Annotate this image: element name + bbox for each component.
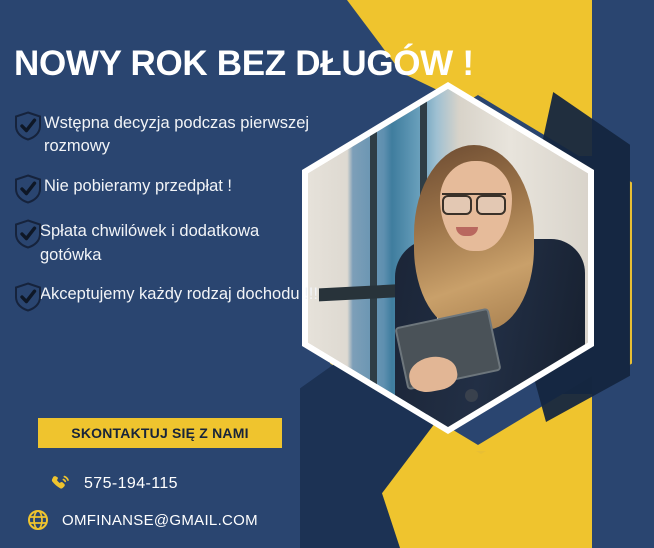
contact-phone-row[interactable]: 575-194-115 [48, 472, 178, 496]
list-item: Nie pobieramy przedpłat ! [10, 175, 322, 198]
email-address: OMFINANSE@GMAIL.COM [62, 512, 258, 529]
shield-check-icon [14, 111, 42, 141]
list-item: Spłata chwilówek i dodatkowa gotówka [10, 220, 322, 267]
photo-jacket-button [465, 389, 478, 402]
benefits-list: Wstępna decyzja podczas pierwszej rozmow… [10, 112, 322, 323]
contact-email-row[interactable]: OMFINANSE@GMAIL.COM [26, 508, 258, 532]
contact-us-button[interactable]: SKONTAKTUJ SIĘ Z NAMI [38, 418, 282, 448]
list-item: Wstępna decyzja podczas pierwszej rozmow… [10, 112, 322, 159]
phone-number: 575-194-115 [84, 475, 178, 493]
shield-check-icon [14, 282, 42, 312]
phone-icon [48, 472, 72, 496]
list-item-label: Akceptujemy każdy rodzaj dochodu !!! [40, 285, 318, 303]
list-item-label: Spłata chwilówek i dodatkowa gotówka [40, 222, 259, 263]
list-item: Akceptujemy każdy rodzaj dochodu !!! [10, 283, 322, 306]
photo-window-mullion [370, 89, 377, 427]
photo-person-glasses [442, 193, 506, 212]
list-item-label: Nie pobieramy przedpłat ! [44, 177, 232, 195]
promo-banner: NOWY ROK BEZ DŁUGÓW ! Wstępna decyzja po… [0, 0, 654, 548]
page-title: NOWY ROK BEZ DŁUGÓW ! [14, 44, 474, 84]
shield-check-icon [14, 174, 42, 204]
list-item-label: Wstępna decyzja podczas pierwszej rozmow… [44, 114, 309, 155]
globe-icon [26, 508, 50, 532]
shield-check-icon [14, 219, 42, 249]
